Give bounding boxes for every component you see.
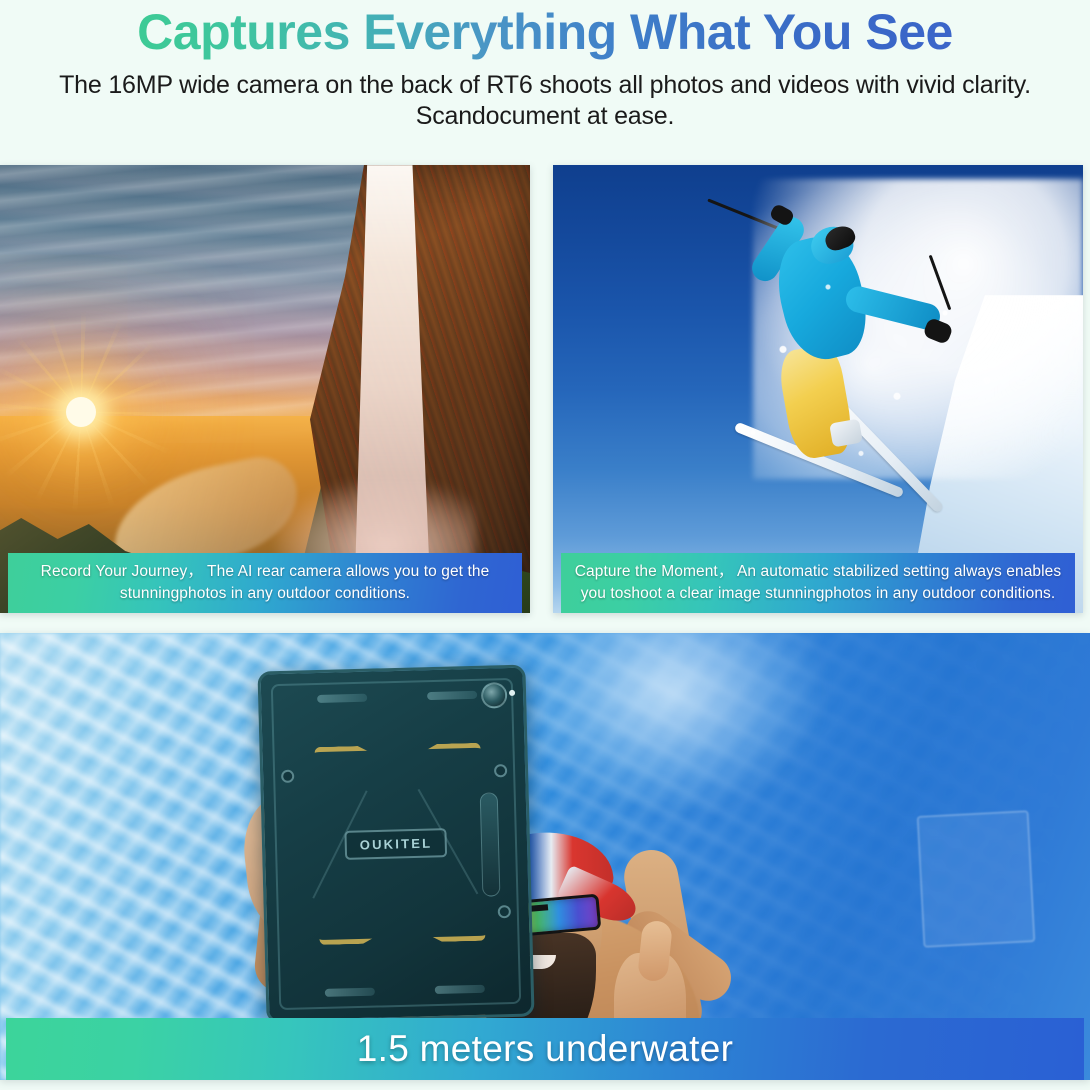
tablet-vent-top-right: [427, 691, 477, 700]
tablet-vent-bottom-right: [435, 985, 485, 994]
water-surface-glow: [520, 633, 820, 809]
caption-capture-the-moment: Capture the Moment， An automatic stabili…: [561, 553, 1075, 613]
pool-wall-panel: [917, 810, 1036, 948]
bottom-banner-text: 1.5 meters underwater: [357, 1028, 733, 1070]
bottom-banner: 1.5 meters underwater: [6, 1018, 1084, 1080]
tablet-vent-bottom-left: [325, 988, 375, 997]
photo-card-record-your-journey[interactable]: Record Your Journey， The AI rear camera …: [0, 165, 530, 613]
page-subtitle: The 16MP wide camera on the back of RT6 …: [6, 62, 1084, 132]
sun-icon: [66, 397, 96, 427]
top-image-row: Record Your Journey， The AI rear camera …: [0, 165, 1090, 613]
brand-logo: OUKITEL: [344, 828, 447, 860]
underwater-photo: [0, 633, 1090, 1080]
tablet-kickstand[interactable]: [480, 792, 501, 896]
photo-card-capture-the-moment[interactable]: Capture the Moment， An automatic stabili…: [553, 165, 1083, 613]
caption-record-your-journey: Record Your Journey， The AI rear camera …: [8, 553, 522, 613]
waterfall-sunset-photo: [0, 165, 530, 613]
header: Captures Everything What You See The 16M…: [0, 0, 1090, 132]
tablet-vent-top-left: [317, 694, 367, 703]
skier-photo: [553, 165, 1083, 613]
camera-flash-icon: [509, 690, 515, 696]
snow-spray-particles: [723, 235, 1023, 495]
photo-card-underwater[interactable]: [0, 633, 1090, 1080]
oukitel-tablet[interactable]: OUKITEL: [257, 665, 534, 1024]
page-title: Captures Everything What You See: [6, 0, 1084, 62]
